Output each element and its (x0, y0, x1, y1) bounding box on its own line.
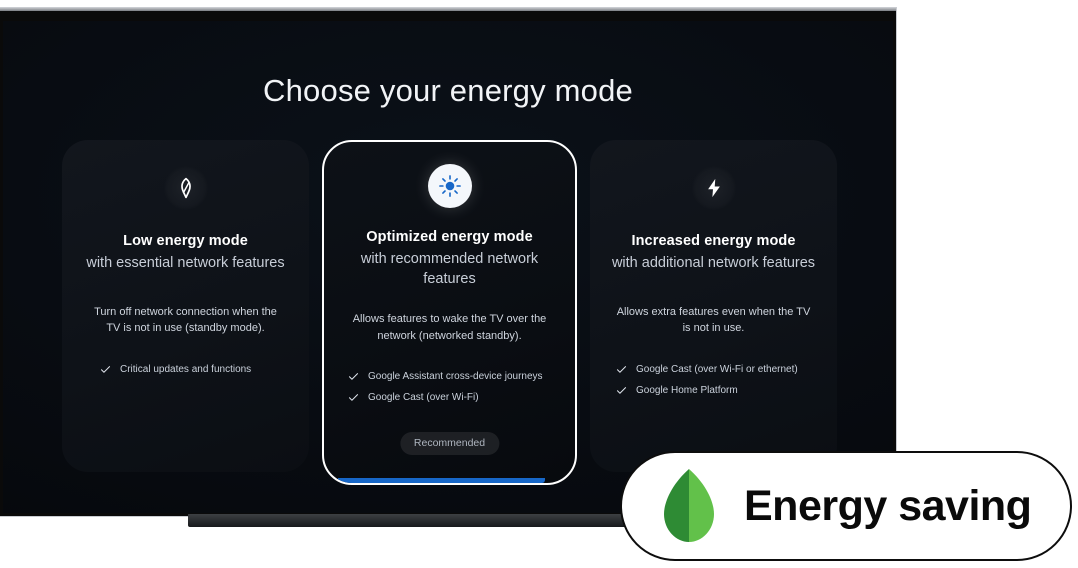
list-item: Google Cast (over Wi-Fi or ethernet) (616, 363, 813, 376)
energy-mode-card-low[interactable]: Low energy mode with essential network f… (62, 140, 309, 472)
check-icon (348, 371, 359, 382)
list-item-label: Google Cast (over Wi-Fi) (368, 391, 479, 404)
check-icon (100, 364, 111, 375)
leaf-icon (164, 166, 208, 210)
page-title: Choose your energy mode (3, 73, 893, 109)
lightning-bolt-icon (692, 166, 736, 210)
list-item-label: Critical updates and functions (120, 363, 251, 376)
tv-bezel-highlight (0, 8, 896, 11)
energy-saving-badge: Energy saving (620, 451, 1072, 561)
check-icon (616, 385, 627, 396)
list-item-label: Google Cast (over Wi-Fi or ethernet) (636, 363, 798, 376)
green-leaf-icon (658, 468, 720, 544)
feature-list: Critical updates and functions (78, 363, 293, 376)
energy-mode-card-optimized[interactable]: Optimized energy mode with recommended n… (322, 140, 577, 485)
list-item: Critical updates and functions (100, 363, 285, 376)
card-title: Low energy mode (78, 232, 293, 250)
progress-bar-fill (338, 478, 545, 483)
brightness-sun-icon (428, 164, 472, 208)
card-description: Allows features to wake the TV over the … (340, 311, 559, 344)
list-item: Google Home Platform (616, 384, 813, 397)
feature-list: Google Cast (over Wi-Fi or ethernet) Goo… (606, 363, 821, 397)
recommended-badge: Recommended (400, 432, 499, 455)
list-item: Google Assistant cross-device journeys (348, 370, 551, 383)
card-subtitle: with additional network features (606, 254, 821, 274)
card-description: Allows extra features even when the TV i… (606, 304, 821, 337)
list-item-label: Google Assistant cross-device journeys (368, 370, 543, 383)
check-icon (348, 392, 359, 403)
energy-mode-card-list: Low energy mode with essential network f… (62, 140, 837, 485)
card-title: Optimized energy mode (340, 228, 559, 246)
tv-screen: Choose your energy mode Low energy mode … (3, 21, 893, 513)
check-icon (616, 364, 627, 375)
tv-frame: Choose your energy mode Low energy mode … (0, 8, 896, 516)
card-title: Increased energy mode (606, 232, 821, 250)
energy-mode-card-increased[interactable]: Increased energy mode with additional ne… (590, 140, 837, 472)
card-subtitle: with essential network features (78, 254, 293, 274)
card-description: Turn off network connection when the TV … (78, 304, 293, 337)
feature-list: Google Assistant cross-device journeys G… (340, 370, 559, 404)
list-item-label: Google Home Platform (636, 384, 738, 397)
card-subtitle: with recommended network features (340, 250, 559, 289)
progress-bar (338, 478, 561, 483)
list-item: Google Cast (over Wi-Fi) (348, 391, 551, 404)
energy-saving-label: Energy saving (744, 482, 1031, 531)
